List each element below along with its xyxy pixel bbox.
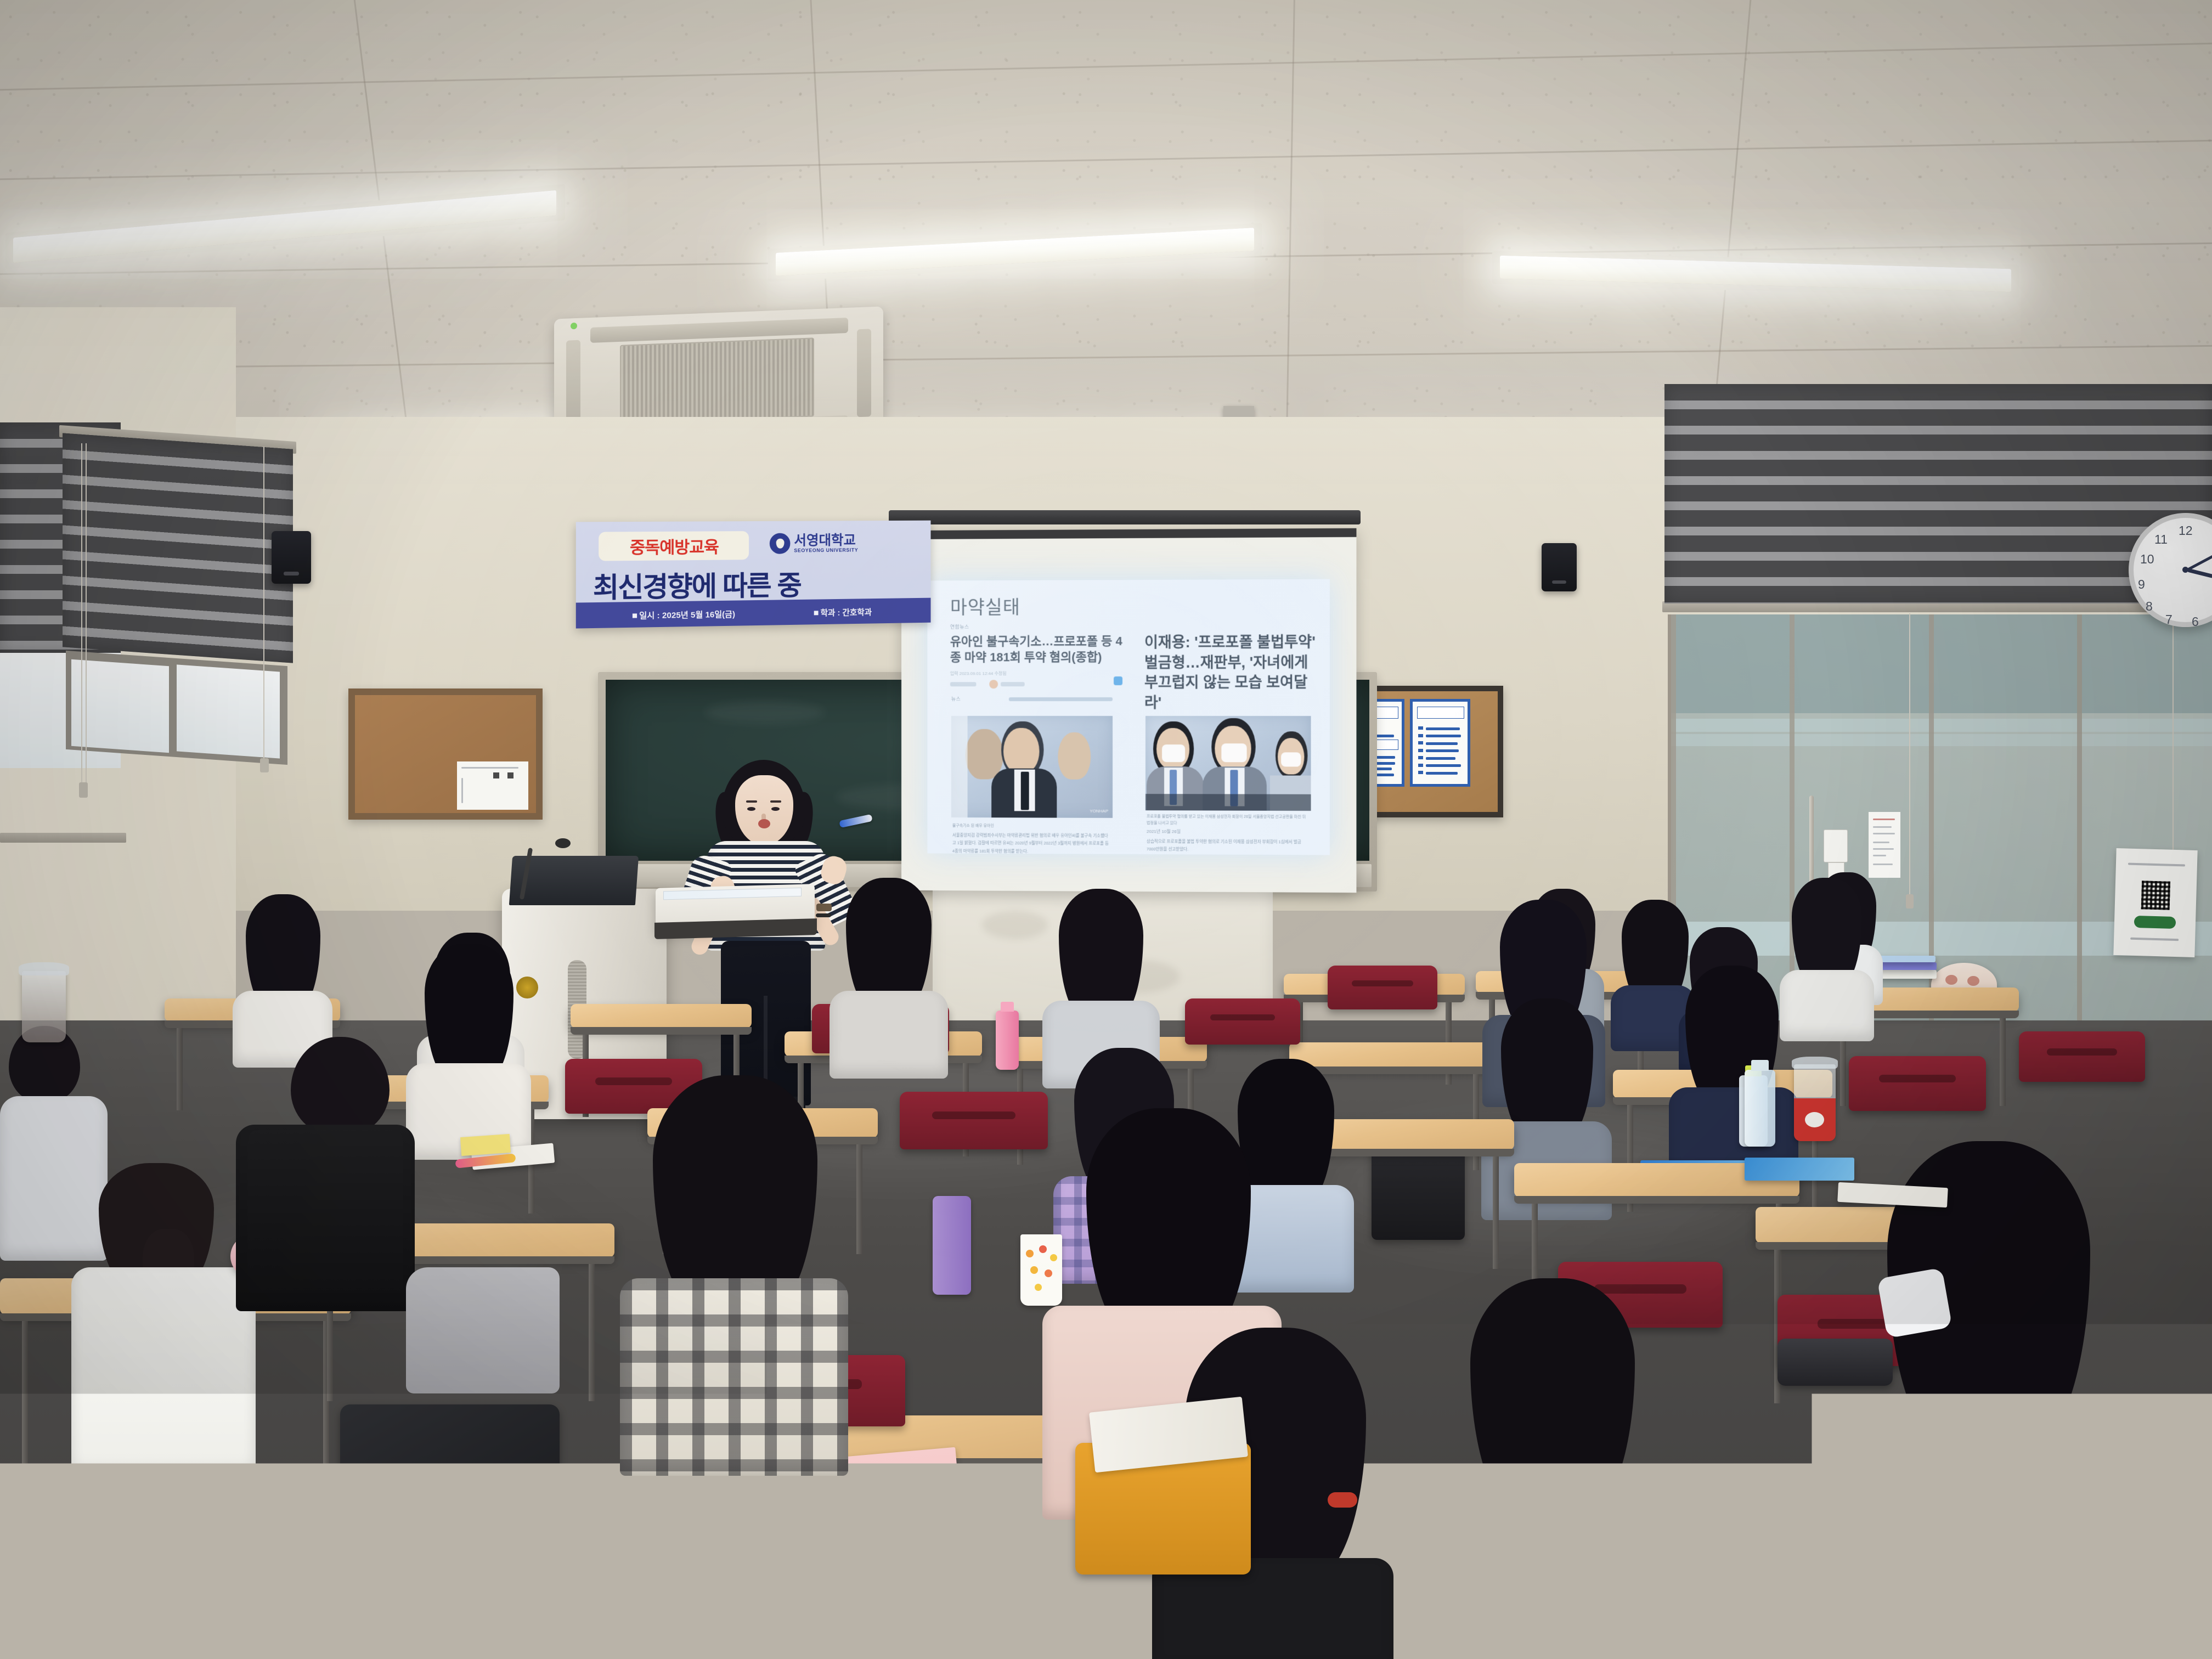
door-access-panel[interactable]: [1824, 830, 1848, 862]
grey-sweatpants: [406, 1267, 560, 1393]
screen-roller[interactable]: [889, 510, 1361, 524]
student: [236, 1037, 417, 1322]
smartphone[interactable]: [831, 1509, 946, 1659]
clock-numeral: 12: [2179, 523, 2193, 538]
news-headline-right: 이재용: '프로포폴 불법투약' 벌금형…재판부, '자녀에게 부끄럽지 않는 …: [1144, 632, 1317, 713]
chair[interactable]: [2019, 1031, 2145, 1082]
pencil-case: [1778, 1339, 1893, 1386]
clock-numeral: 7: [2165, 612, 2172, 627]
backpack: [340, 1404, 560, 1657]
banner-date: 일시 : 2025년 5월 16일(금): [633, 608, 735, 622]
news-kicker: 연합뉴스: [950, 623, 1125, 630]
clock-minute-hand: [2186, 551, 2212, 571]
sticky-notes: [460, 1134, 511, 1156]
student-black-jacket: [236, 1125, 415, 1311]
news-headline-left: 유아인 불구속기소…프로포폴 등 4종 마약 181회 투약 혐의(종합): [950, 633, 1125, 665]
news-body-right: 상습적으로 프로포폴을 불법 투약한 혐의로 기소된 이재용 삼성전자 부회장이…: [1147, 838, 1310, 854]
news-date-line: 2021년 10월 26일: [1147, 828, 1257, 836]
iced-coffee-cup: [22, 971, 66, 1042]
hair-tie: [1328, 1492, 1357, 1508]
iced-coffee-cup: [1794, 1064, 1836, 1141]
university-name-en: SEOYEONG UNIVERSITY: [794, 547, 858, 553]
face-mask: [1877, 1267, 1952, 1338]
blue-booklet: [1745, 1158, 1854, 1181]
left-window-near: [59, 433, 295, 850]
wall-speaker: [1542, 543, 1577, 591]
presentation-slide: 마약실태 연합뉴스 유아인 불구속기소…프로포폴 등 4종 마약 181회 투약…: [927, 579, 1329, 855]
pinned-sheet: [457, 761, 528, 810]
chair[interactable]: [1185, 998, 1300, 1045]
student: [1854, 1141, 2129, 1659]
magsafe-ring: [860, 1581, 930, 1650]
instructor-mouth: [758, 819, 770, 828]
banner-department: 학과 : 간호학과: [814, 606, 872, 618]
clock-hour-hand: [2187, 568, 2212, 578]
event-banner: 중독예방교육 서영대학교 SEOYEONG UNIVERSITY 최신경향에 따…: [576, 521, 931, 629]
cork-surface: [355, 695, 536, 813]
qr-code-poster: [2113, 848, 2197, 957]
news-strap: [1009, 697, 1113, 701]
student-pink-top: [1854, 1415, 2126, 1659]
bulletin-board-left: [348, 689, 543, 820]
university-name-ko: 서영대학교: [794, 533, 858, 548]
clock-numeral: 6: [2192, 614, 2199, 629]
news-source-label: 뉴스: [951, 695, 961, 702]
student: [71, 1163, 258, 1492]
slide-left-article: 연합뉴스 유아인 불구속기소…프로포폴 등 4종 마약 181회 투약 혐의(종…: [950, 623, 1125, 676]
student-long-hair: [653, 1075, 817, 1311]
clock-numeral: 10: [2140, 552, 2154, 567]
door-notice-sheet: [1869, 812, 1900, 878]
chair[interactable]: [900, 1092, 1048, 1149]
student: [828, 878, 949, 1059]
banner-badge-text: 중독예방교육: [630, 533, 719, 558]
university-emblem-icon: [770, 533, 791, 554]
microphone-icon: [555, 838, 571, 848]
news-meta: 입력 2023.09.01 12:44 수정됨: [950, 670, 1125, 676]
tumbler: [933, 1196, 971, 1295]
news-photo-left: YONHAP: [951, 716, 1113, 818]
student-long-hair: [1086, 1108, 1251, 1339]
air-conditioner-grille: [620, 337, 814, 424]
classroom-photo: 12 11 10 9 8 7 6: [0, 0, 2212, 1659]
news-body-left: 서울중앙지검 강력범죄수사부는 마약류관리법 위반 혐의로 배우 유아인씨를 불…: [952, 832, 1110, 856]
news-photo-caption-left: 불구속기소 된 배우 유아인: [952, 823, 1105, 830]
water-bottle: [1745, 1070, 1775, 1147]
qr-code: [2141, 881, 2170, 910]
window-blind[interactable]: [63, 433, 293, 663]
student: [1437, 1278, 1668, 1659]
student: [406, 944, 532, 1136]
university-logo: 서영대학교 SEOYEONG UNIVERSITY: [770, 533, 858, 554]
news-photo-caption-right: 프로포폴 불법투약 혐의를 받고 있는 이재용 삼성전자 회장이 26일 서울중…: [1147, 814, 1307, 827]
projection-screen: 마약실태 연합뉴스 유아인 불구속기소…프로포폴 등 4종 마약 181회 투약…: [901, 528, 1356, 893]
student: [1778, 878, 1876, 1031]
poster-green-button: [2134, 916, 2176, 929]
chair[interactable]: [33, 1525, 208, 1596]
student: [230, 894, 335, 1053]
student: [1042, 889, 1163, 1070]
chair[interactable]: [1328, 966, 1437, 1009]
lectern-paper: [663, 888, 802, 900]
textbook-badge: [823, 1485, 890, 1504]
poster-program-outcomes: [1410, 699, 1470, 787]
water-bottle: [996, 1011, 1019, 1070]
chair[interactable]: [1849, 1056, 1986, 1111]
student: [620, 1075, 850, 1459]
news-photo-right: [1145, 716, 1311, 811]
clock-numeral: 11: [2154, 532, 2168, 547]
wall-speaker: [272, 531, 311, 584]
clock-numeral: 9: [2138, 577, 2145, 592]
banner-badge: 중독예방교육: [599, 531, 749, 561]
clock-numeral: 8: [2146, 599, 2153, 614]
student-checked-shawl: [620, 1278, 848, 1476]
slide-title: 마약실태: [950, 592, 1020, 619]
desk: [571, 1004, 752, 1028]
